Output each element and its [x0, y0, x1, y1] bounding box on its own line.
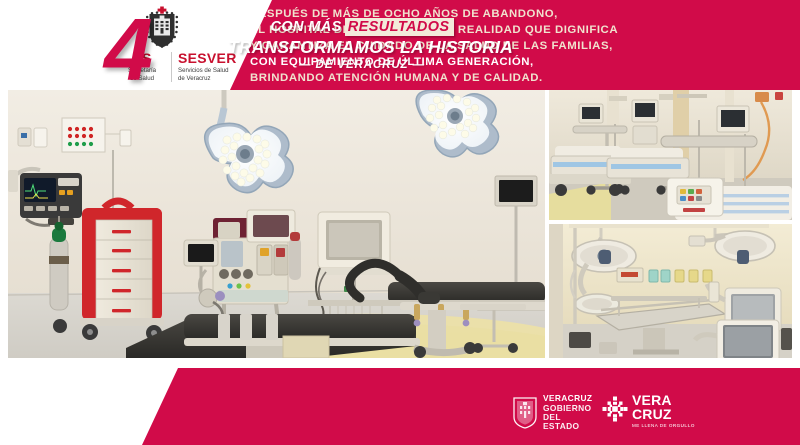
veracruz-government-logo: VERACRUZ GOBIERNO DEL ESTADO	[512, 395, 598, 431]
state-coat-of-arms-icon	[512, 397, 538, 429]
vc-tagline-plain: ME LLENA DE	[632, 423, 669, 428]
campaign-slogan: CON MÁS RESULTADOS TRANSFORMAMOS LA HIST…	[228, 18, 496, 80]
veracruz-brand-logo: VERA CRUZ ME LLENA DE ORGULLO	[602, 394, 694, 432]
slogan-line-1: CON MÁS RESULTADOS	[228, 18, 496, 35]
government-wordmark: VERACRUZ GOBIERNO DEL ESTADO	[543, 394, 598, 432]
gov-line-3: DEL ESTADO	[543, 413, 598, 432]
veracruz-grecas-icon	[602, 396, 628, 422]
hospital-beds-photo	[549, 90, 792, 220]
slogan-line-2: TRANSFORMAMOS LA HISTORIA	[228, 38, 496, 57]
vc-tagline-accent: ORGULLO	[669, 423, 695, 428]
slogan-resultados-badge: RESULTADOS	[345, 18, 454, 36]
vc-tagline: ME LLENA DE ORGULLO	[632, 423, 695, 429]
sesver-logo-block: SESVER Servicios de Salud de Veracruz	[172, 51, 237, 82]
footer-magenta-band	[142, 368, 800, 445]
big-number-four: 4	[104, 6, 150, 94]
operating-room-main-photo	[8, 90, 545, 358]
slogan-line-3: — DE VERACRUZ —	[228, 59, 496, 72]
veracruz-wordmark: VERA CRUZ ME LLENA DE ORGULLO	[632, 394, 695, 429]
vc-line-cruz: CRUZ	[632, 407, 695, 421]
photo-collage	[8, 90, 792, 358]
slogan-con-mas: CON MÁS	[270, 19, 341, 35]
operating-room-second-photo	[549, 224, 792, 358]
poster-canvas: DESPUÉS DE MÁS DE OCHO AÑOS DE ABANDONO,…	[0, 0, 800, 445]
